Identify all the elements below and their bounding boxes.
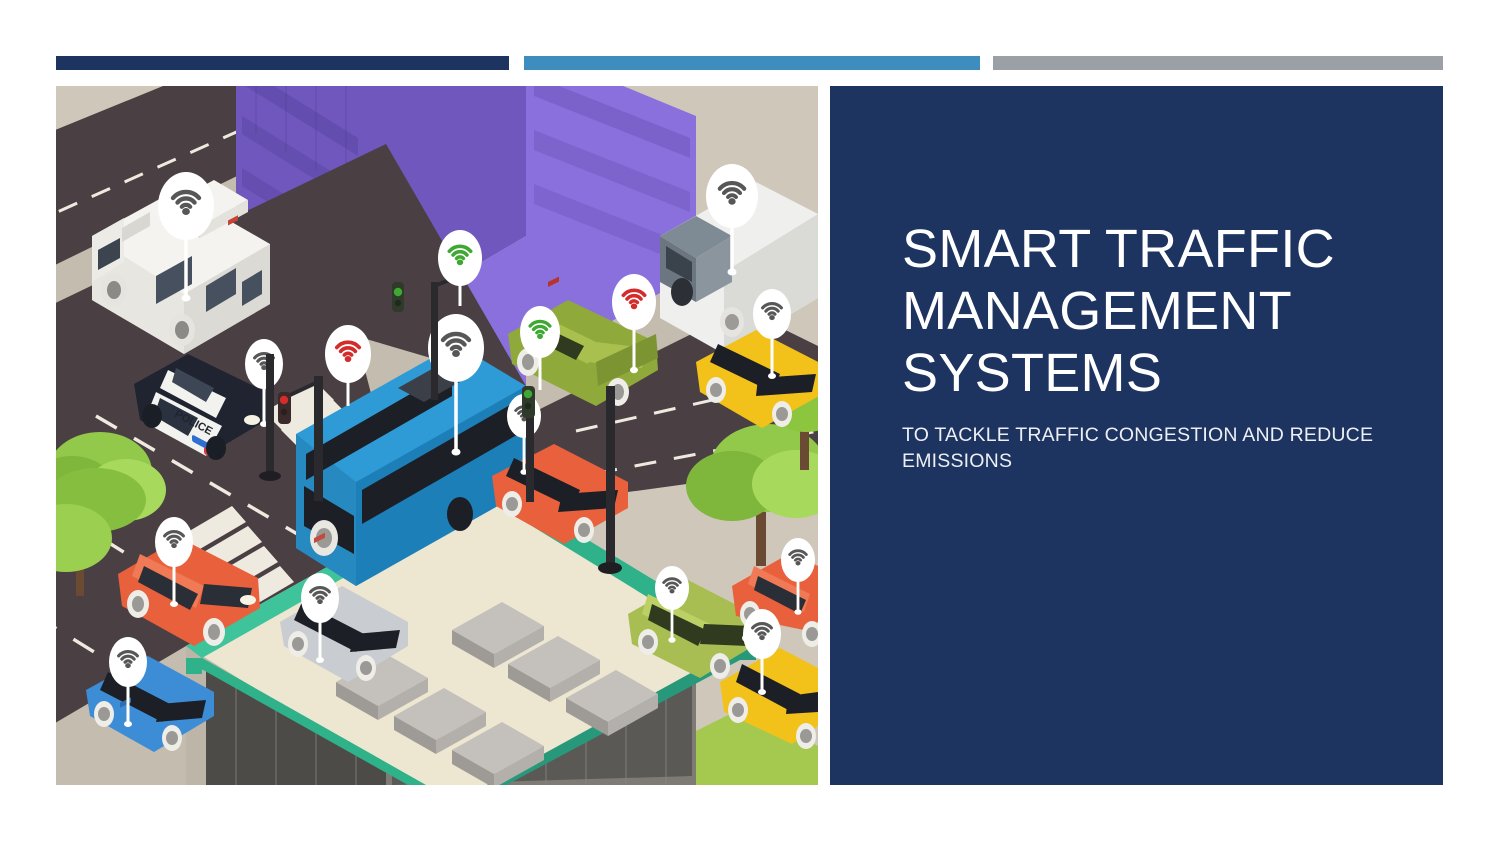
accent-bar-blue bbox=[524, 56, 980, 70]
presentation-slide: POLICE bbox=[0, 0, 1500, 844]
accent-bar-navy bbox=[56, 56, 509, 70]
accent-bar-gray bbox=[993, 56, 1443, 70]
title-panel: SMART TRAFFIC MANAGEMENT SYSTEMS TO TACK… bbox=[830, 86, 1443, 785]
title-block: SMART TRAFFIC MANAGEMENT SYSTEMS TO TACK… bbox=[902, 218, 1402, 474]
page-subtitle: TO TACKLE TRAFFIC CONGESTION AND REDUCE … bbox=[902, 422, 1397, 474]
smart-city-traffic-illustration: POLICE bbox=[56, 86, 818, 785]
page-title: SMART TRAFFIC MANAGEMENT SYSTEMS bbox=[902, 218, 1402, 404]
